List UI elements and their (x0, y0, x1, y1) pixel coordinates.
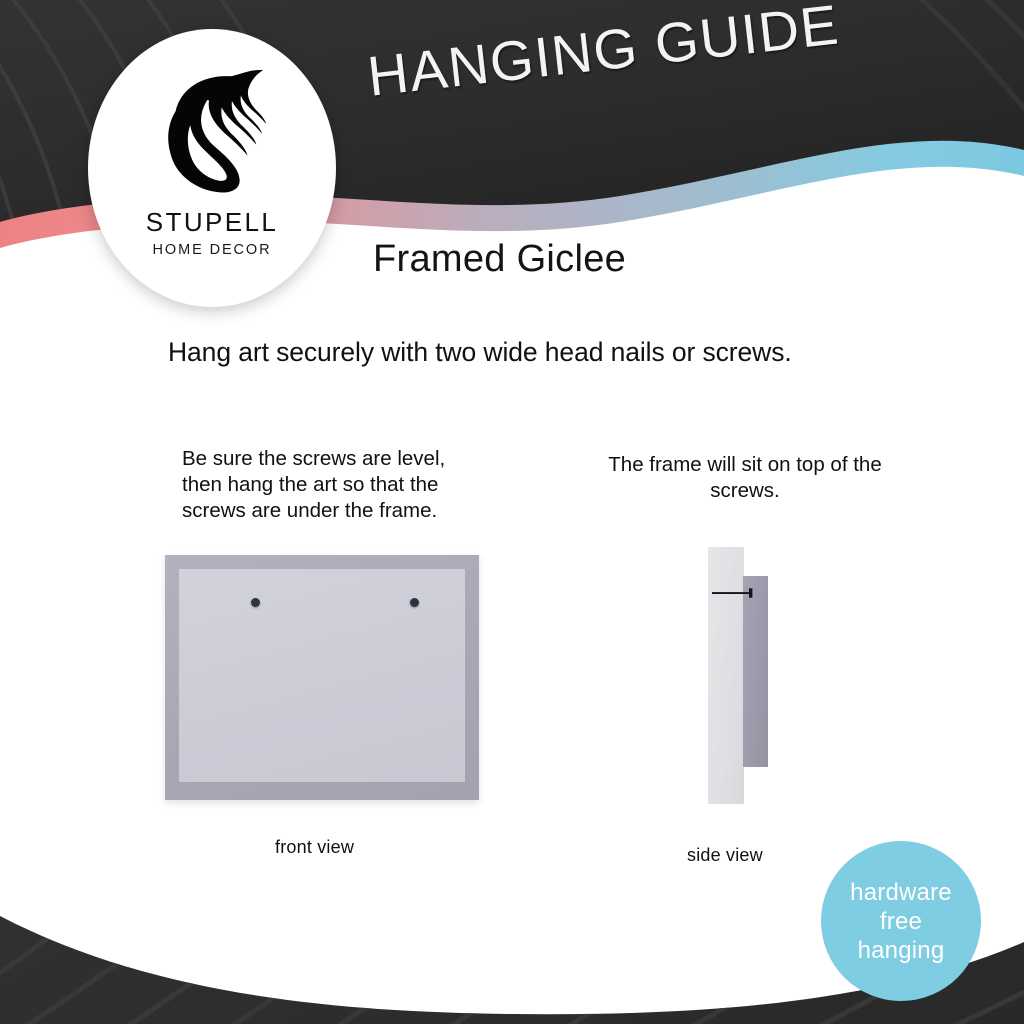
badge-line-1: hardware (850, 878, 952, 907)
side-view-frame (743, 576, 768, 767)
primary-instruction: Hang art securely with two wide head nai… (168, 337, 792, 368)
hanging-guide-page: STUPELL HOME DECOR HANGING GUIDE Framed … (0, 0, 1024, 1024)
badge-line-2: free (880, 907, 922, 936)
hardware-free-badge: hardware free hanging (821, 841, 981, 1001)
side-view-wall (708, 547, 744, 804)
front-view-label: front view (275, 837, 354, 858)
front-view-diagram (165, 555, 479, 800)
brand-tagline: HOME DECOR (153, 242, 272, 258)
page-title: HANGING GUIDE (364, 0, 888, 109)
screw-dot-right (410, 598, 419, 607)
product-type-heading: Framed Giclee (373, 238, 626, 281)
front-view-caption: Be sure the screws are level, then hang … (182, 446, 482, 524)
front-view-mat (179, 569, 465, 782)
side-view-diagram (708, 547, 772, 804)
nail-icon (712, 588, 759, 598)
stupell-swoosh-logo-icon (146, 67, 278, 195)
screw-dot-left (251, 598, 260, 607)
side-view-label: side view (687, 845, 763, 866)
brand-name: STUPELL (146, 207, 278, 238)
side-view-caption: The frame will sit on top of the screws. (600, 452, 890, 504)
brand-logo-badge: STUPELL HOME DECOR (88, 29, 336, 307)
badge-line-3: hanging (858, 936, 945, 965)
